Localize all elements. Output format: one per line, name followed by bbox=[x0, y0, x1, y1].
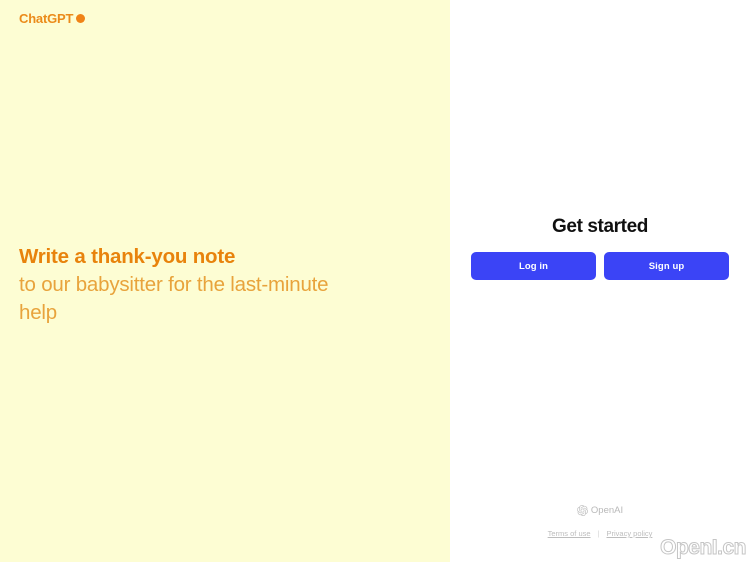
prompt-line-1: Write a thank-you note bbox=[19, 243, 419, 271]
openai-logo: OpenAI bbox=[450, 505, 750, 516]
openai-wordmark: OpenAI bbox=[591, 505, 623, 516]
prompt-line-3: help bbox=[19, 299, 419, 327]
chatgpt-brand-logo: ChatGPT bbox=[19, 11, 85, 26]
privacy-policy-link[interactable]: Privacy policy bbox=[607, 529, 653, 538]
page-title: Get started bbox=[450, 216, 750, 238]
example-prompt: Write a thank-you note to our babysitter… bbox=[19, 243, 419, 327]
right-auth-panel: Get started Log in Sign up OpenAI Terms … bbox=[450, 0, 750, 562]
brand-name-label: ChatGPT bbox=[19, 11, 73, 26]
footer-separator: | bbox=[598, 529, 600, 538]
get-started-section: Get started Log in Sign up bbox=[450, 216, 750, 280]
chatgpt-landing-page: ChatGPT Write a thank-you note to our ba… bbox=[0, 0, 750, 562]
terms-of-use-link[interactable]: Terms of use bbox=[548, 529, 591, 538]
left-promo-panel: ChatGPT Write a thank-you note to our ba… bbox=[0, 0, 450, 562]
footer: OpenAI Terms of use | Privacy policy bbox=[450, 505, 750, 538]
footer-links: Terms of use | Privacy policy bbox=[450, 529, 750, 538]
orange-dot-icon bbox=[76, 14, 85, 23]
login-button[interactable]: Log in bbox=[471, 252, 596, 280]
signup-button[interactable]: Sign up bbox=[604, 252, 729, 280]
auth-button-group: Log in Sign up bbox=[450, 252, 750, 280]
openai-blossom-icon bbox=[577, 505, 588, 516]
prompt-line-2: to our babysitter for the last-minute bbox=[19, 271, 419, 299]
